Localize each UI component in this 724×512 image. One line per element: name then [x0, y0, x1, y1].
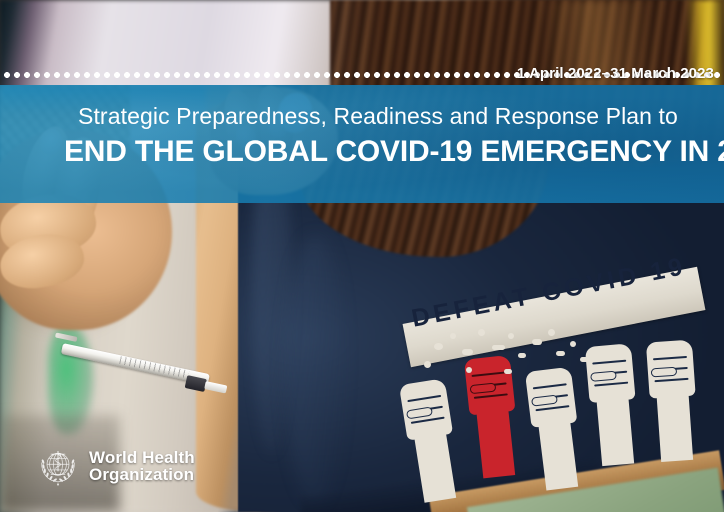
poster-subtitle: Strategic Preparedness, Readiness and Re…: [78, 103, 678, 130]
raised-fist-icon: [646, 340, 700, 463]
title-banner-content: Strategic Preparedness, Readiness and Re…: [0, 85, 724, 203]
who-poster: DEFEAT COVID 19: [0, 0, 724, 512]
who-emblem-icon: [36, 444, 80, 488]
who-wordmark-line2: Organization: [89, 466, 195, 483]
photo-shirt-fold: [286, 235, 346, 505]
poster-title: END THE GLOBAL COVID-19 EMERGENCY IN 202…: [64, 135, 724, 169]
date-range-label: 1 April 2022–31 March 2023: [517, 65, 714, 82]
title-banner: Strategic Preparedness, Readiness and Re…: [0, 85, 724, 203]
who-logo: World Health Organization: [36, 444, 195, 488]
who-wordmark-line1: World Health: [89, 449, 195, 466]
print-virus-shards: [404, 327, 604, 399]
tshirt-print: DEFEAT COVID 19: [398, 281, 724, 512]
who-wordmark: World Health Organization: [89, 449, 195, 483]
